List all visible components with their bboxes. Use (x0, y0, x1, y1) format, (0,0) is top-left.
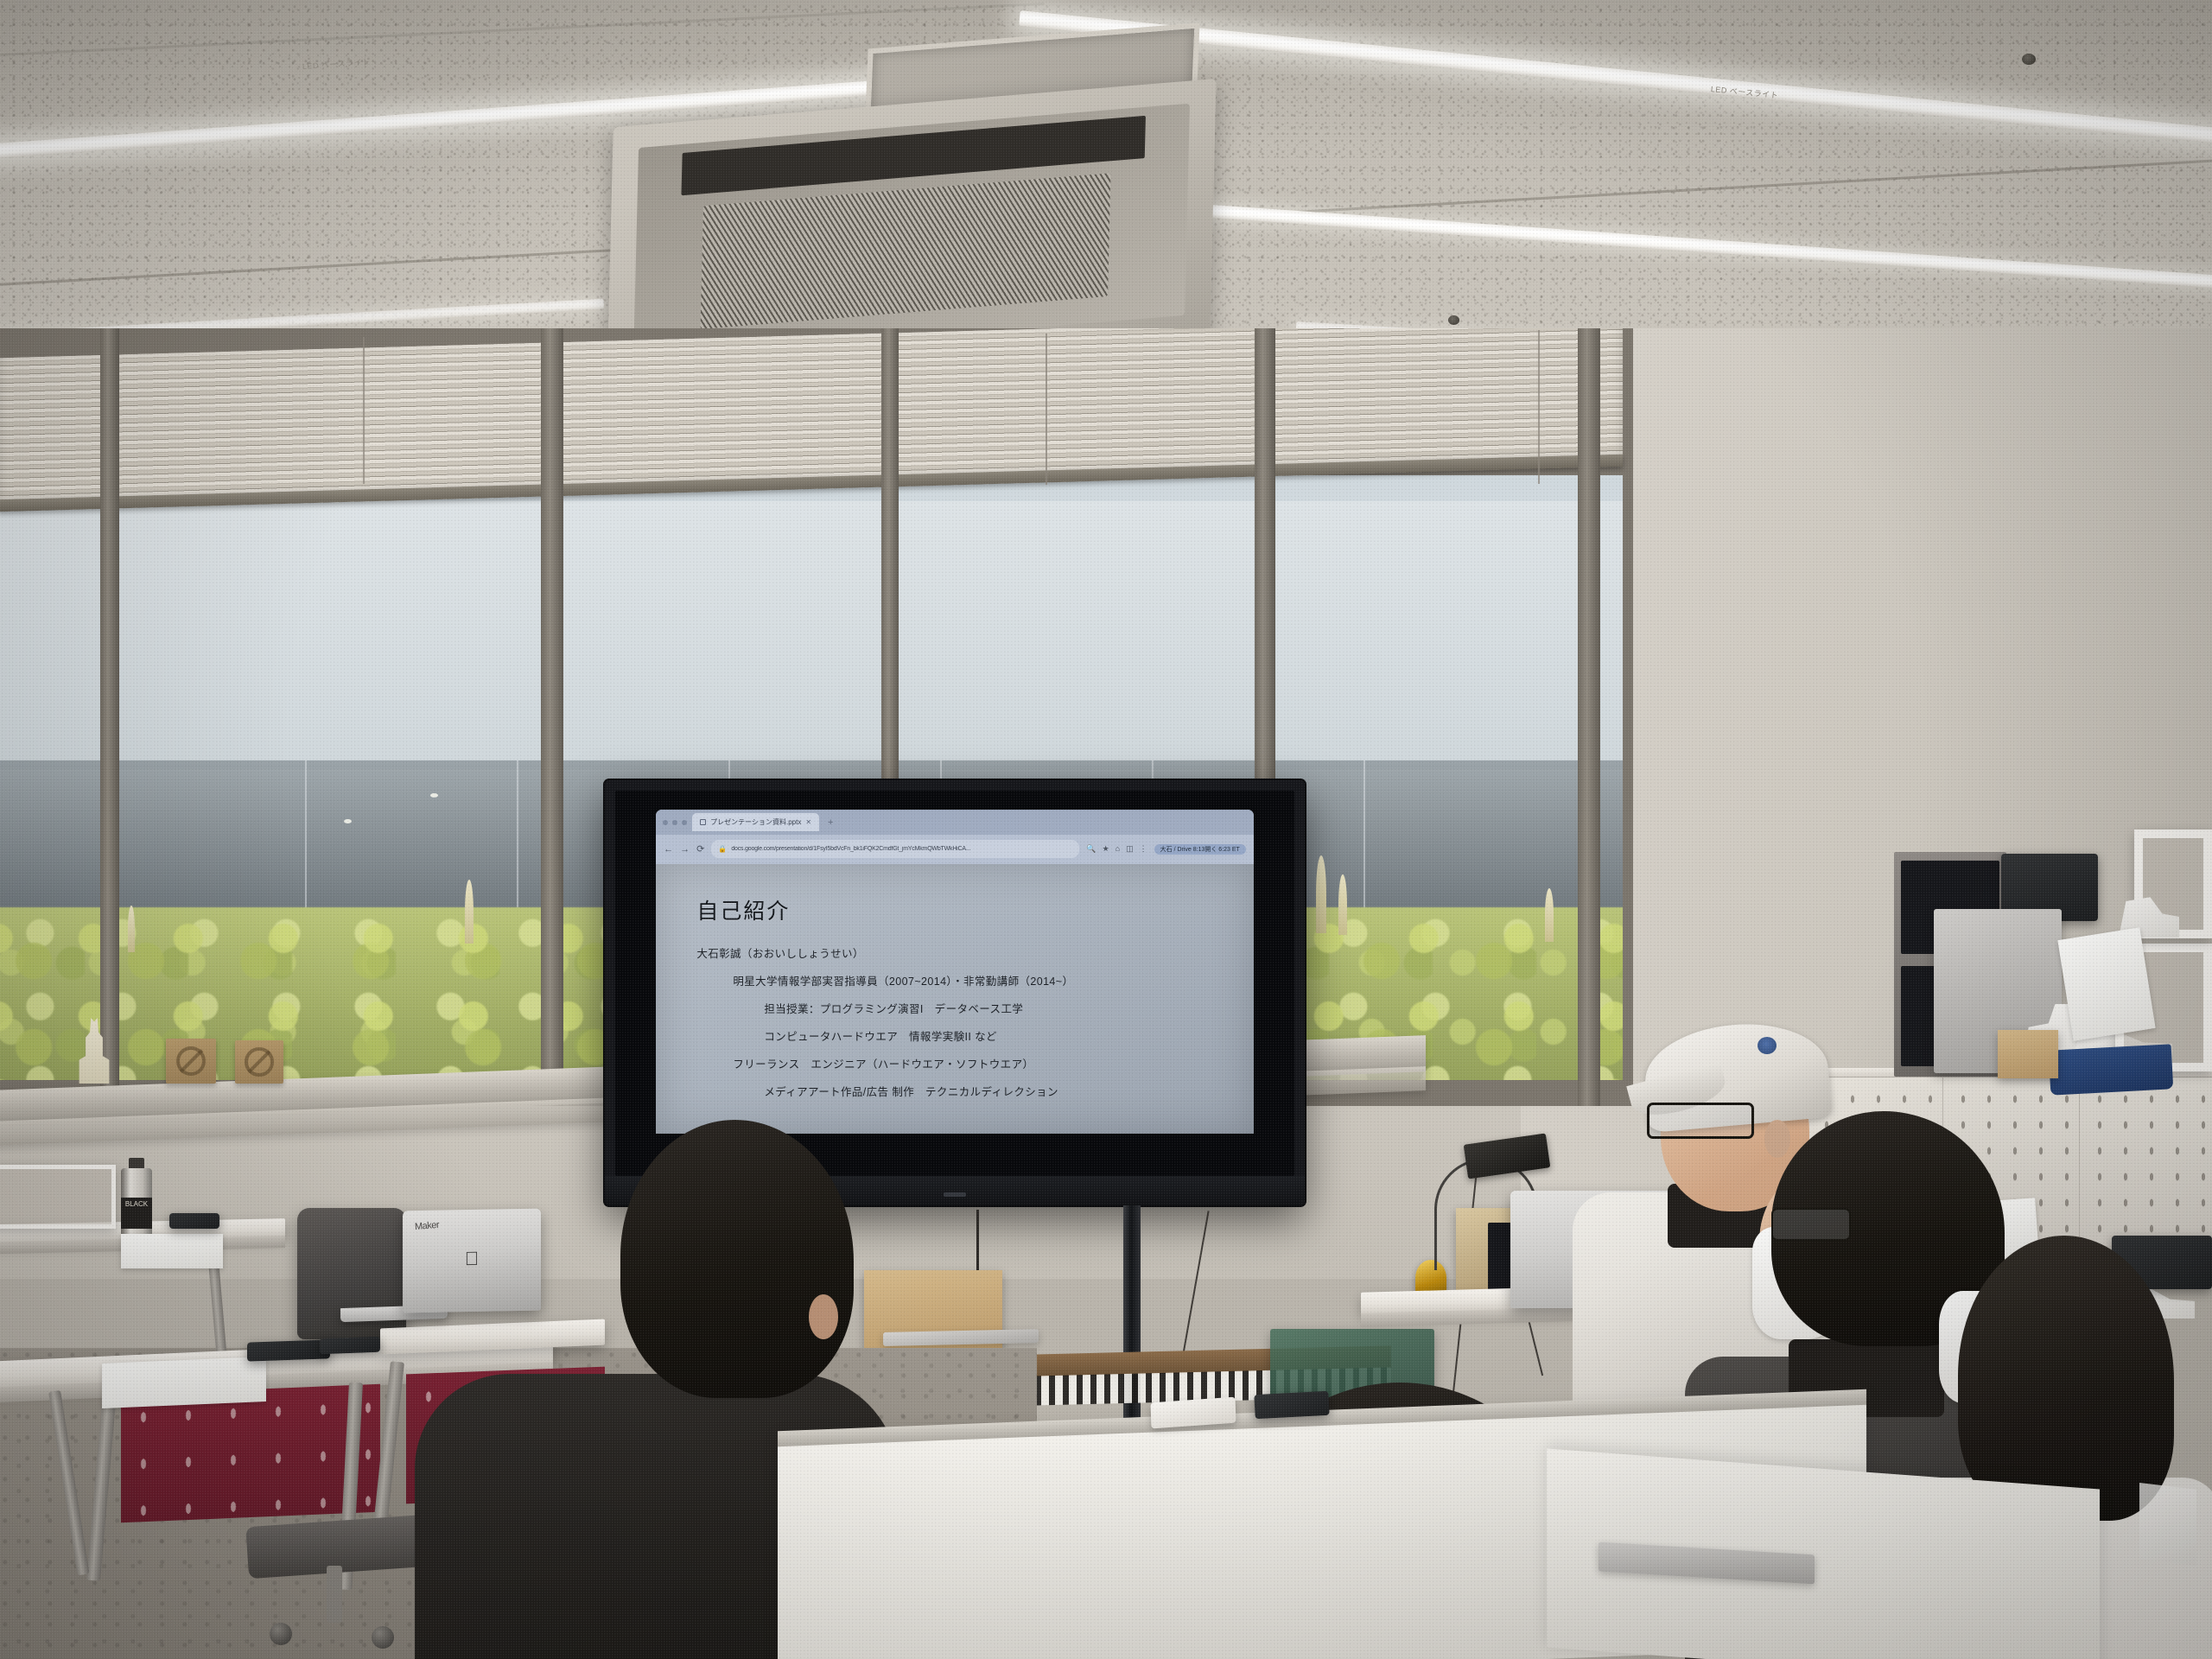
stapler (169, 1213, 219, 1229)
slide-line: フリーランス エンジニア（ハードウエア・ソフトウエア） (733, 1055, 1219, 1071)
eyeglasses-icon (1647, 1103, 1754, 1139)
address-bar-url: docs.google.com/presentation/d/1FsyI5bdV… (731, 846, 970, 852)
browser-toolbar: ← → ⟳ 🔒 docs.google.com/presentation/d/1… (656, 835, 1254, 864)
prohibition-icon (176, 1046, 207, 1077)
bookmark-star-icon[interactable]: ★ (1103, 844, 1109, 854)
hoodie-print-patch (2139, 1483, 2196, 1566)
slide-line: 担当授業：プログラミング演習I データベース工学 (764, 1000, 1219, 1016)
sidebar-icon[interactable]: ◫ (1126, 844, 1134, 854)
bottle-label: BLACK (121, 1198, 152, 1229)
no-smoking-sign (166, 1039, 216, 1084)
slide-line: 大石彰誠（おおいししょうせい） (696, 944, 1219, 961)
blind-cord[interactable] (1046, 334, 1047, 485)
blind-cord[interactable] (363, 337, 365, 484)
presentation-slide: 自己紹介 大石彰誠（おおいししょうせい） 明星大学情報学部実習指導員（2007~… (656, 864, 1254, 1134)
ac-grill (700, 173, 1111, 328)
small-cardboard-box (1998, 1030, 2058, 1078)
slide-title: 自己紹介 (696, 894, 1219, 925)
ear (809, 1294, 838, 1339)
slide-line: コンピュータハードウエア 情報学実験II など (764, 1027, 1219, 1044)
lock-icon: 🔒 (718, 845, 727, 853)
printed-notice (2057, 927, 2155, 1041)
window-mullion (100, 328, 119, 1106)
tab-favicon (700, 819, 706, 825)
browser-tab[interactable]: プレゼンテーション資料.pptx ✕ (692, 813, 819, 831)
chair-wheel (270, 1623, 292, 1645)
smoke-detector-icon (2022, 54, 2036, 65)
exterior-ceiling-light-icon (430, 793, 438, 798)
chair-wheel (372, 1626, 394, 1649)
back-icon[interactable]: ← (664, 844, 673, 855)
small-black-device (1254, 1391, 1329, 1419)
browser-tab-bar: プレゼンテーション資料.pptx ✕ + (656, 810, 1254, 835)
blue-storage-tray (2049, 1044, 2174, 1095)
laptop-sticker-text: Maker (415, 1220, 440, 1232)
electronic-parts (320, 1337, 380, 1354)
display-brand-logo (944, 1192, 966, 1197)
prohibition-icon (245, 1047, 274, 1077)
plant-spike (465, 880, 474, 944)
attendee-hair (1958, 1236, 2174, 1521)
profile-chip[interactable]: 大石 / Drive 8:13開く 6:23 ET (1154, 844, 1246, 855)
eyeglasses-icon (1771, 1208, 1851, 1241)
smoke-detector-icon (1448, 315, 1459, 325)
window-controls[interactable] (663, 820, 687, 825)
paper-sheet (102, 1357, 266, 1408)
toolbar-icons[interactable]: 🔍 ★ ⌂ ◫ ⋮ (1086, 844, 1147, 854)
electronic-parts (247, 1339, 330, 1361)
menu-icon[interactable]: ⋮ (1140, 844, 1147, 854)
ear (1764, 1120, 1790, 1158)
minimize-icon[interactable] (672, 820, 677, 825)
plant-spike (1338, 874, 1347, 935)
display-screen: プレゼンテーション資料.pptx ✕ + ← → ⟳ 🔒 docs.google… (615, 791, 1294, 1176)
maximize-icon[interactable] (682, 820, 687, 825)
tab-close-icon[interactable]: ✕ (805, 818, 811, 826)
classroom-photo: LED ベースライト LED ベースライト (0, 0, 2212, 1659)
forward-icon[interactable]: → (680, 844, 690, 855)
cap-logo-icon (1758, 1037, 1777, 1054)
white-box (121, 1234, 223, 1268)
search-icon[interactable]: 🔍 (1086, 844, 1096, 854)
home-icon[interactable]: ⌂ (1116, 844, 1120, 854)
slide-line: 明星大学情報学部実習指導員（2007~2014）・非常勤講師（2014~） (733, 972, 1219, 988)
plant-spike (1316, 855, 1326, 933)
apple-logo-icon:  (465, 1249, 480, 1268)
new-tab-icon[interactable]: + (824, 817, 836, 828)
no-food-sign (235, 1040, 283, 1084)
window-mullion (541, 328, 563, 1106)
slide-line: メディアアート作品/広告 制作 テクニカルディレクション (764, 1083, 1219, 1099)
close-icon[interactable] (663, 820, 668, 825)
attendee-hair (620, 1120, 854, 1398)
window-mullion (1578, 328, 1600, 1106)
tab-title: プレゼンテーション資料.pptx (710, 817, 801, 827)
blind-cord[interactable] (1538, 330, 1540, 484)
chair-post (327, 1566, 342, 1623)
reload-icon[interactable]: ⟳ (696, 843, 704, 855)
address-bar[interactable]: 🔒 docs.google.com/presentation/d/1FsyI5b… (711, 840, 1079, 858)
exterior-ceiling-light-icon (344, 819, 352, 823)
browser-window[interactable]: プレゼンテーション資料.pptx ✕ + ← → ⟳ 🔒 docs.google… (656, 810, 1254, 863)
plant-spike (128, 906, 135, 952)
exterior-building (0, 501, 1623, 769)
clear-storage-tray (0, 1165, 116, 1229)
bottle-cap (129, 1158, 143, 1168)
plant-spike (1545, 888, 1554, 942)
ac-inner-panel (633, 104, 1190, 360)
macbook-left[interactable]:  Maker (403, 1209, 541, 1313)
